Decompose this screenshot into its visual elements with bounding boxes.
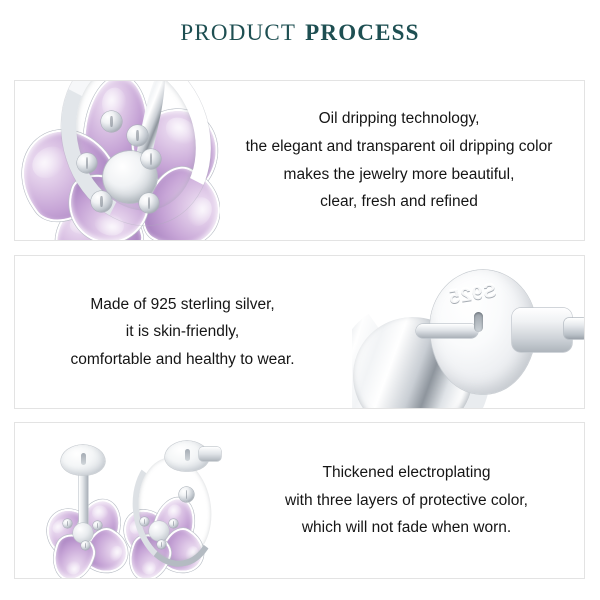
panel-3-line-3: which will not fade when worn. <box>243 514 570 542</box>
page-title-light: PRODUCT <box>180 20 296 45</box>
panel-3-text: Thickened electroplating with three laye… <box>237 459 584 542</box>
panel-1-line-4: clear, fresh and refined <box>226 188 572 216</box>
panel-3-line-2: with three layers of protective color, <box>243 487 570 515</box>
flower-earring-macro-photo <box>15 81 220 240</box>
panel-2-line-2: it is skin-friendly, <box>19 318 346 346</box>
panel-2-line-3: comfortable and healthy to wear. <box>19 346 346 374</box>
panel-2-line-1: Made of 925 sterling silver, <box>19 291 346 319</box>
s925-earring-back-photo: S925 <box>352 256 584 408</box>
earring-post-tip <box>416 324 478 338</box>
flower-center-left <box>73 523 93 543</box>
feature-panel-oil-dripping: Oil dripping technology, the elegant and… <box>14 80 585 241</box>
clutch-barrel <box>512 308 572 352</box>
feature-panel-electroplating: Thickened electroplating with three laye… <box>14 422 585 579</box>
flower-macro-artwork <box>15 81 220 240</box>
hoop-end-bead <box>179 487 194 502</box>
feature-panel-sterling-silver: Made of 925 sterling silver, it is skin-… <box>14 255 585 409</box>
page-title-bold: PROCESS <box>305 20 419 45</box>
earring-back-left <box>61 445 105 475</box>
clutch-hole <box>474 312 483 332</box>
panel-3-line-1: Thickened electroplating <box>243 459 570 487</box>
panel-1-line-3: makes the jewelry more beautiful, <box>226 161 572 189</box>
page-title: PRODUCTPROCESS <box>0 20 600 46</box>
earring-pin-right <box>199 447 221 461</box>
earring-pair-photo <box>15 423 237 578</box>
panel-2-text: Made of 925 sterling silver, it is skin-… <box>15 291 352 374</box>
earring-back-artwork: S925 <box>352 256 584 408</box>
panel-1-text: Oil dripping technology, the elegant and… <box>220 105 584 215</box>
earring-pair-artwork <box>15 423 237 578</box>
panel-1-line-2: the elegant and transparent oil dripping… <box>226 133 572 161</box>
flower-center-right <box>149 521 169 541</box>
clutch-pin <box>564 318 584 339</box>
panel-1-line-1: Oil dripping technology, <box>226 105 572 133</box>
